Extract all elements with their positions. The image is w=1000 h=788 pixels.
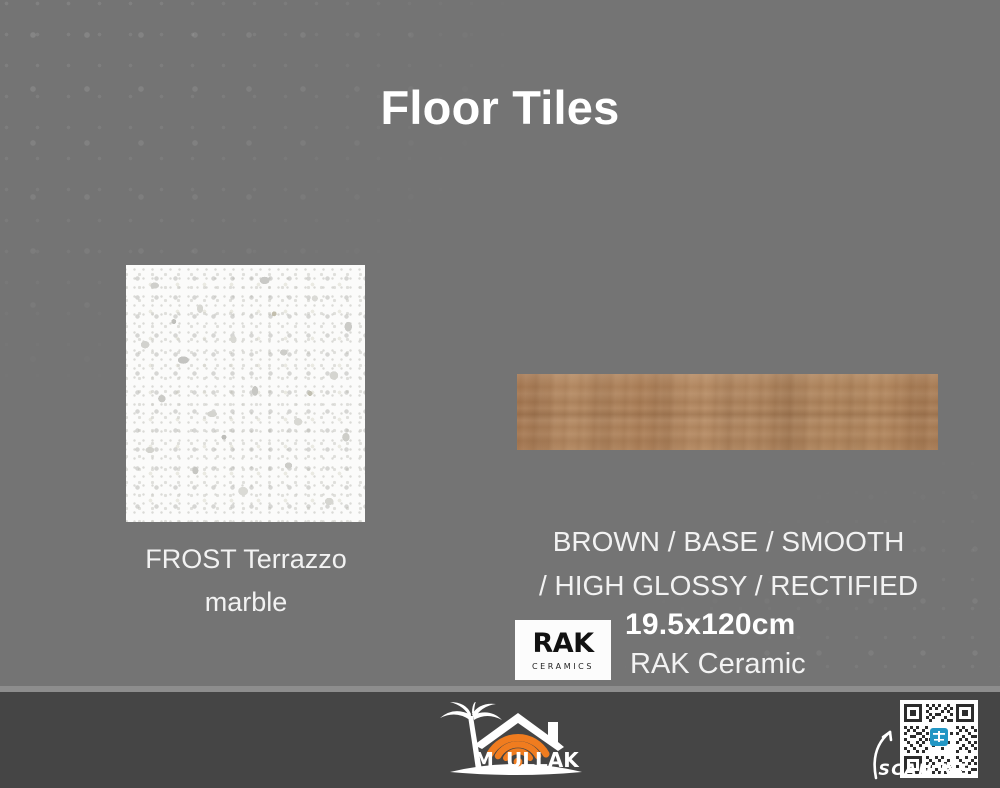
product-swatch-wood-plank (517, 374, 938, 450)
terrazzo-caption-line-2: marble (86, 581, 406, 624)
svg-text:ULLAK: ULLAK (506, 748, 580, 772)
rak-ceramics-logo: RAK CERAMICS (515, 620, 611, 680)
product-spec-wood: BROWN / BASE / SMOOTH / HIGH GLOSSY / RE… (505, 520, 952, 608)
product-brand-label: RAK Ceramic (630, 648, 806, 681)
rak-logo-subtext: CERAMICS (532, 663, 594, 671)
moullak-logo-icon: M ULLAK (432, 702, 600, 778)
svg-text:M: M (474, 748, 494, 772)
wood-spec-line-2: / HIGH GLOSSY / RECTIFIED (505, 564, 952, 608)
product-size-label: 19.5x120cm (625, 608, 796, 642)
rak-logo-wordmark: RAK (532, 630, 593, 657)
terrazzo-caption-line-1: FROST Terrazzo (86, 538, 406, 581)
product-caption-terrazzo: FROST Terrazzo marble (86, 538, 406, 624)
page-title: Floor Tiles (0, 82, 1000, 134)
wood-spec-line-1: BROWN / BASE / SMOOTH (505, 520, 952, 564)
poster-canvas: Floor Tiles FROST Terrazzo marble BROWN … (0, 0, 1000, 788)
moullak-logo: M ULLAK (432, 702, 600, 778)
product-swatch-terrazzo (126, 265, 365, 522)
scan-me-label: SCAN ME (862, 760, 986, 779)
